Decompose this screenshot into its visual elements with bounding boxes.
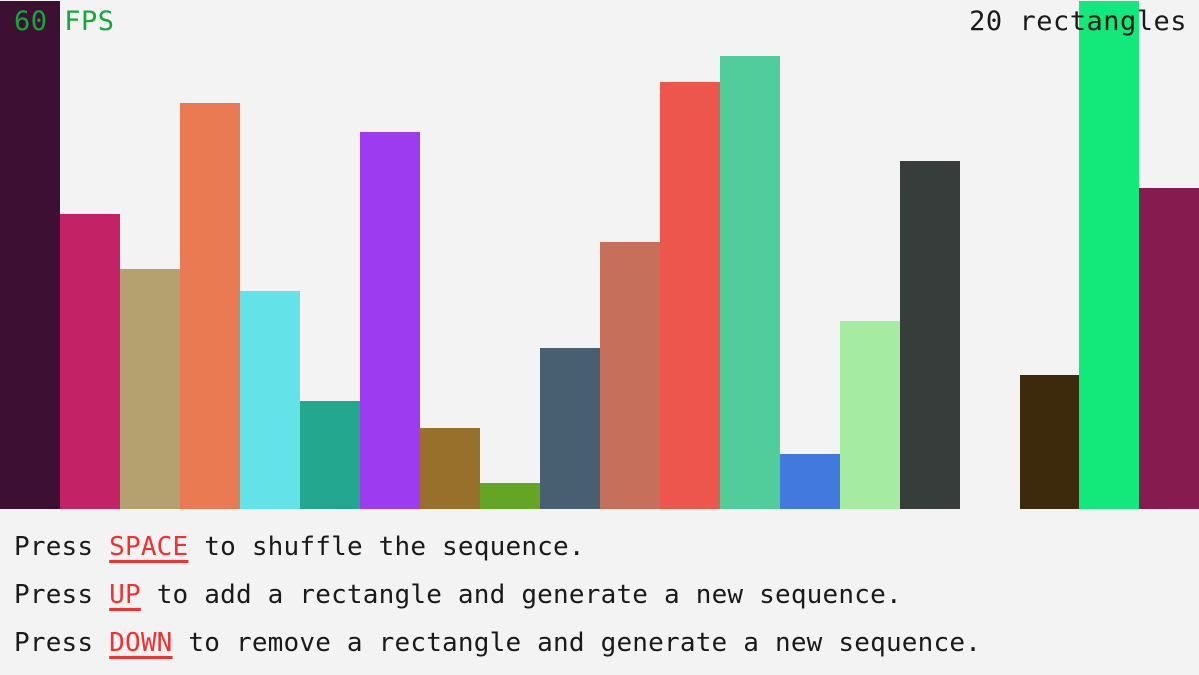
instruction-suffix: to shuffle the sequence. [188,532,584,562]
bar-rectangle [900,161,960,509]
bar-rectangle [1139,188,1199,509]
instructions-panel: Press SPACE to shuffle the sequence.Pres… [0,509,1199,675]
instruction-line: Press SPACE to shuffle the sequence. [14,523,1199,571]
bar-rectangle [720,56,780,509]
instruction-key-up[interactable]: UP [109,580,141,610]
instruction-line: Press DOWN to remove a rectangle and gen… [14,619,1199,667]
bar-rectangle [240,291,300,509]
rectangles-demo-app: 60 FPS 20 rectangles Press SPACE to shuf… [0,0,1199,675]
instruction-prefix: Press [14,580,109,610]
bar-rectangle [60,214,120,509]
bar-rectangle [780,454,840,509]
fps-counter: 60 FPS [14,8,115,35]
instruction-line: Press UP to add a rectangle and generate… [14,571,1199,619]
bar-rectangle [840,321,900,509]
instruction-suffix: to add a rectangle and generate a new se… [141,580,902,610]
bar-rectangle [180,103,240,509]
rectangle-count-label: 20 rectangles [969,8,1187,35]
bar-rectangle [540,348,600,509]
bar-rectangle [480,483,540,509]
instruction-prefix: Press [14,628,109,658]
bar-rectangle [300,401,360,509]
instruction-key-down[interactable]: DOWN [109,628,172,658]
bar-rectangle [420,428,480,509]
bar-rectangle [1079,1,1139,509]
instruction-prefix: Press [14,532,109,562]
bar-rectangle [1020,375,1080,509]
instruction-suffix: to remove a rectangle and generate a new… [173,628,982,658]
bar-chart-canvas[interactable] [0,0,1199,509]
bar-rectangle [120,269,180,509]
bar-rectangle [600,242,660,509]
instruction-key-space[interactable]: SPACE [109,532,188,562]
bar-rectangle [660,82,720,509]
bar-rectangle [0,1,60,509]
bar-rectangle [360,132,420,509]
